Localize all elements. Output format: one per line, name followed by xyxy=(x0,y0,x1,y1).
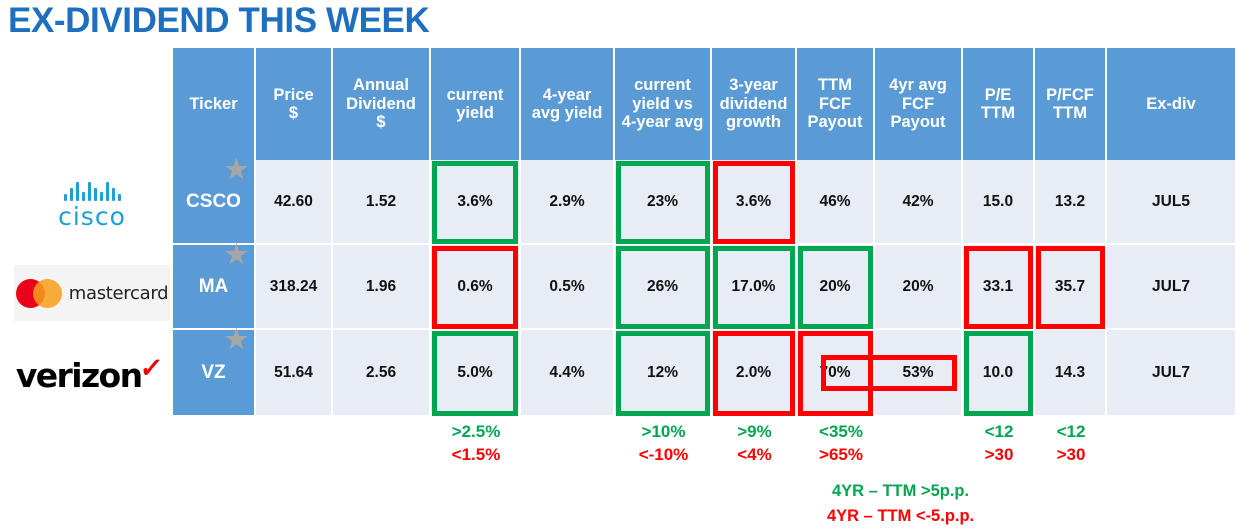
table-row: 51.64 xyxy=(256,330,333,415)
table-row-ticker-vz[interactable]: ★ VZ xyxy=(173,330,256,415)
table-row: 4.4% xyxy=(521,330,615,415)
table-row: 53% xyxy=(875,330,963,415)
table-row: 2.0% xyxy=(712,330,797,415)
table-row: 70% xyxy=(797,330,875,415)
table-row: JUL7 xyxy=(1107,245,1235,330)
table-row: 42% xyxy=(875,160,963,245)
legend-pe-ttm: <12 >30 xyxy=(963,421,1035,467)
legend-ttm-fcf-payout: <35% >65% xyxy=(797,421,885,467)
table-row: 20% xyxy=(797,245,875,330)
header-ttm-fcf-payout: TTM FCF Payout xyxy=(797,48,875,160)
cisco-bars-icon xyxy=(64,181,121,201)
table-row: 5.0% xyxy=(431,330,521,415)
table-row: JUL5 xyxy=(1107,160,1235,245)
table-row: JUL7 xyxy=(1107,330,1235,415)
table-row: 13.2 xyxy=(1035,160,1107,245)
header-pe-ttm: P/E TTM xyxy=(963,48,1035,160)
ex-dividend-table: Ticker Price $ Annual Dividend $ current… xyxy=(173,48,1235,415)
table-row: 14.3 xyxy=(1035,330,1107,415)
verizon-check-icon: ✓ xyxy=(138,353,164,384)
page-title: EX-DIVIDEND THIS WEEK xyxy=(8,1,429,41)
legend-current-yield: >2.5% <1.5% xyxy=(431,421,521,467)
table-row: 0.5% xyxy=(521,245,615,330)
header-four-yr-avg-fcf-payout: 4yr avg FCF Payout xyxy=(875,48,963,160)
legend-three-year-dividend-growth: >9% <4% xyxy=(712,421,797,467)
header-price: Price $ xyxy=(256,48,333,160)
header-current-yield-vs-4yr-avg: current yield vs 4-year avg xyxy=(615,48,712,160)
table-row-ticker-csco[interactable]: ★ CSCO xyxy=(173,160,256,245)
legend-current-yield-vs-4yr-avg: >10% <-10% xyxy=(615,421,712,467)
mastercard-logo: mastercard xyxy=(14,258,170,328)
legend-pfcf-ttm: <12 >30 xyxy=(1035,421,1107,467)
legend-note-good: 4YR – TTM >5p.p. xyxy=(832,480,969,503)
table-row: 2.56 xyxy=(333,330,431,415)
slide-canvas: EX-DIVIDEND THIS WEEK cisco mastercard v… xyxy=(0,0,1239,529)
cisco-logo: cisco xyxy=(14,166,170,246)
star-icon: ★ xyxy=(225,241,248,267)
table-row: 23% xyxy=(615,160,712,245)
header-four-year-avg-yield: 4-year avg yield xyxy=(521,48,615,160)
table-row: 3.6% xyxy=(712,160,797,245)
table-row-ticker-ma[interactable]: ★ MA xyxy=(173,245,256,330)
table-row: 46% xyxy=(797,160,875,245)
table-row: 318.24 xyxy=(256,245,333,330)
table-row: 35.7 xyxy=(1035,245,1107,330)
mastercard-circles-icon xyxy=(16,279,62,308)
table-row: 20% xyxy=(875,245,963,330)
table-row: 2.9% xyxy=(521,160,615,245)
star-icon: ★ xyxy=(225,326,248,352)
table-row: 26% xyxy=(615,245,712,330)
table-row: 0.6% xyxy=(431,245,521,330)
table-row: 3.6% xyxy=(431,160,521,245)
table-row: 17.0% xyxy=(712,245,797,330)
header-three-year-dividend-growth: 3-year dividend growth xyxy=(712,48,797,160)
star-icon: ★ xyxy=(225,156,248,182)
table-row: 33.1 xyxy=(963,245,1035,330)
mastercard-wordmark: mastercard xyxy=(69,283,169,304)
header-annual-dividend: Annual Dividend $ xyxy=(333,48,431,160)
cisco-wordmark: cisco xyxy=(58,202,126,231)
header-current-yield: current yield xyxy=(431,48,521,160)
table-row: 15.0 xyxy=(963,160,1035,245)
verizon-wordmark: verizon xyxy=(16,356,142,395)
header-ex-div: Ex-div xyxy=(1107,48,1235,160)
header-ticker: Ticker xyxy=(173,48,256,160)
table-row: 10.0 xyxy=(963,330,1035,415)
legend-note-bad: 4YR – TTM <-5.p.p. xyxy=(827,505,974,528)
header-pfcf-ttm: P/FCF TTM xyxy=(1035,48,1107,160)
table-row: 1.52 xyxy=(333,160,431,245)
table-row: 42.60 xyxy=(256,160,333,245)
table-row: 1.96 xyxy=(333,245,431,330)
verizon-logo: verizon ✓ xyxy=(8,344,170,406)
table-row: 12% xyxy=(615,330,712,415)
